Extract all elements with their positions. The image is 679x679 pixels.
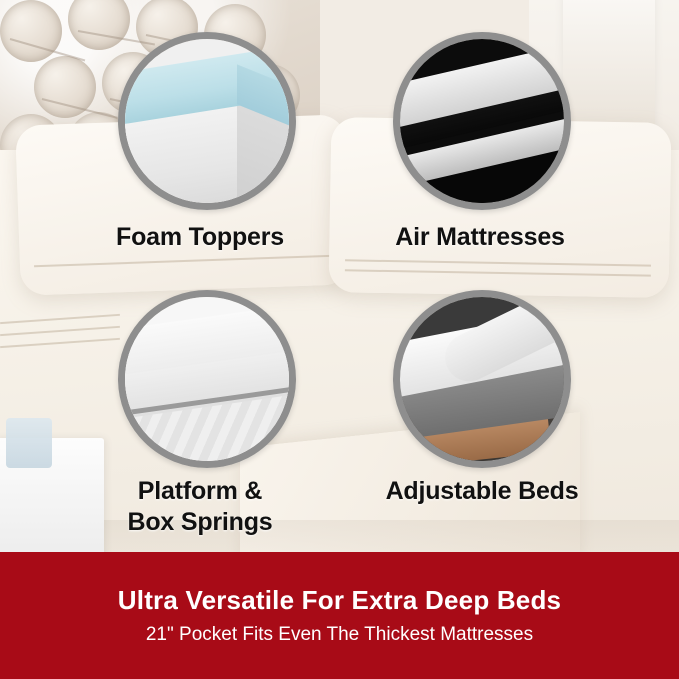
callout-label-platform-box-springs: Platform & Box Springs: [62, 476, 338, 538]
callout-circle-adjustable-beds: [393, 290, 571, 468]
callout-label-line-2: Box Springs: [62, 507, 338, 538]
platform-box-spring-image: [125, 297, 289, 461]
banner-title: Ultra Versatile For Extra Deep Beds: [118, 585, 561, 616]
bottom-banner: Ultra Versatile For Extra Deep Beds 21" …: [0, 552, 679, 679]
foam-topper-image: [125, 39, 289, 203]
callout-label-adjustable-beds: Adjustable Beds: [342, 476, 622, 507]
callout-label-foam-toppers: Foam Toppers: [60, 222, 340, 253]
callout-label-line-1: Platform &: [62, 476, 338, 507]
adjustable-bed-image: [400, 297, 564, 461]
lamp-shade: [563, 0, 655, 138]
air-mattress-image: [400, 39, 564, 203]
callout-circle-platform-box-springs: [118, 290, 296, 468]
banner-subtitle: 21" Pocket Fits Even The Thickest Mattre…: [146, 624, 533, 646]
product-infographic: Foam Toppers Air Mattresses Platform & B…: [0, 0, 679, 679]
callout-circle-air-mattresses: [393, 32, 571, 210]
callout-label-air-mattresses: Air Mattresses: [340, 222, 620, 253]
water-glass: [6, 418, 52, 468]
callout-circle-foam-toppers: [118, 32, 296, 210]
